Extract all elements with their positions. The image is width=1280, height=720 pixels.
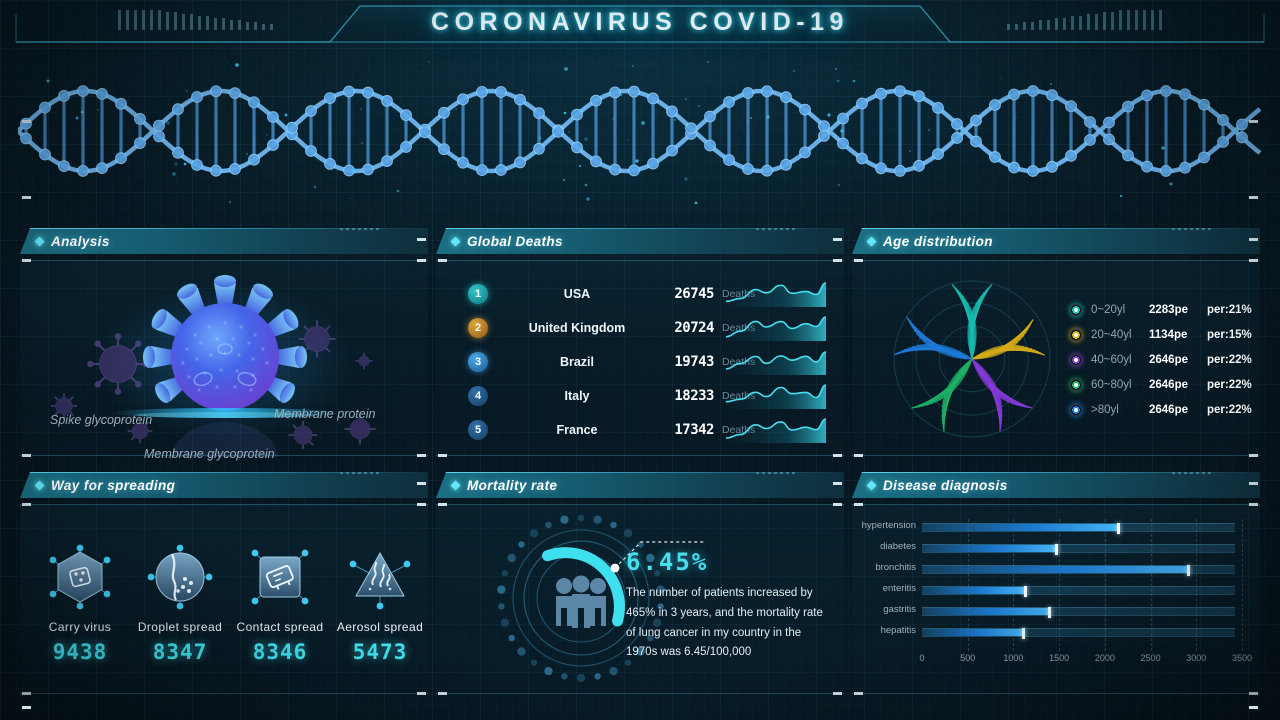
corner-tick xyxy=(22,706,31,709)
corner-tick xyxy=(1249,706,1258,709)
vignette-overlay xyxy=(0,0,1280,720)
